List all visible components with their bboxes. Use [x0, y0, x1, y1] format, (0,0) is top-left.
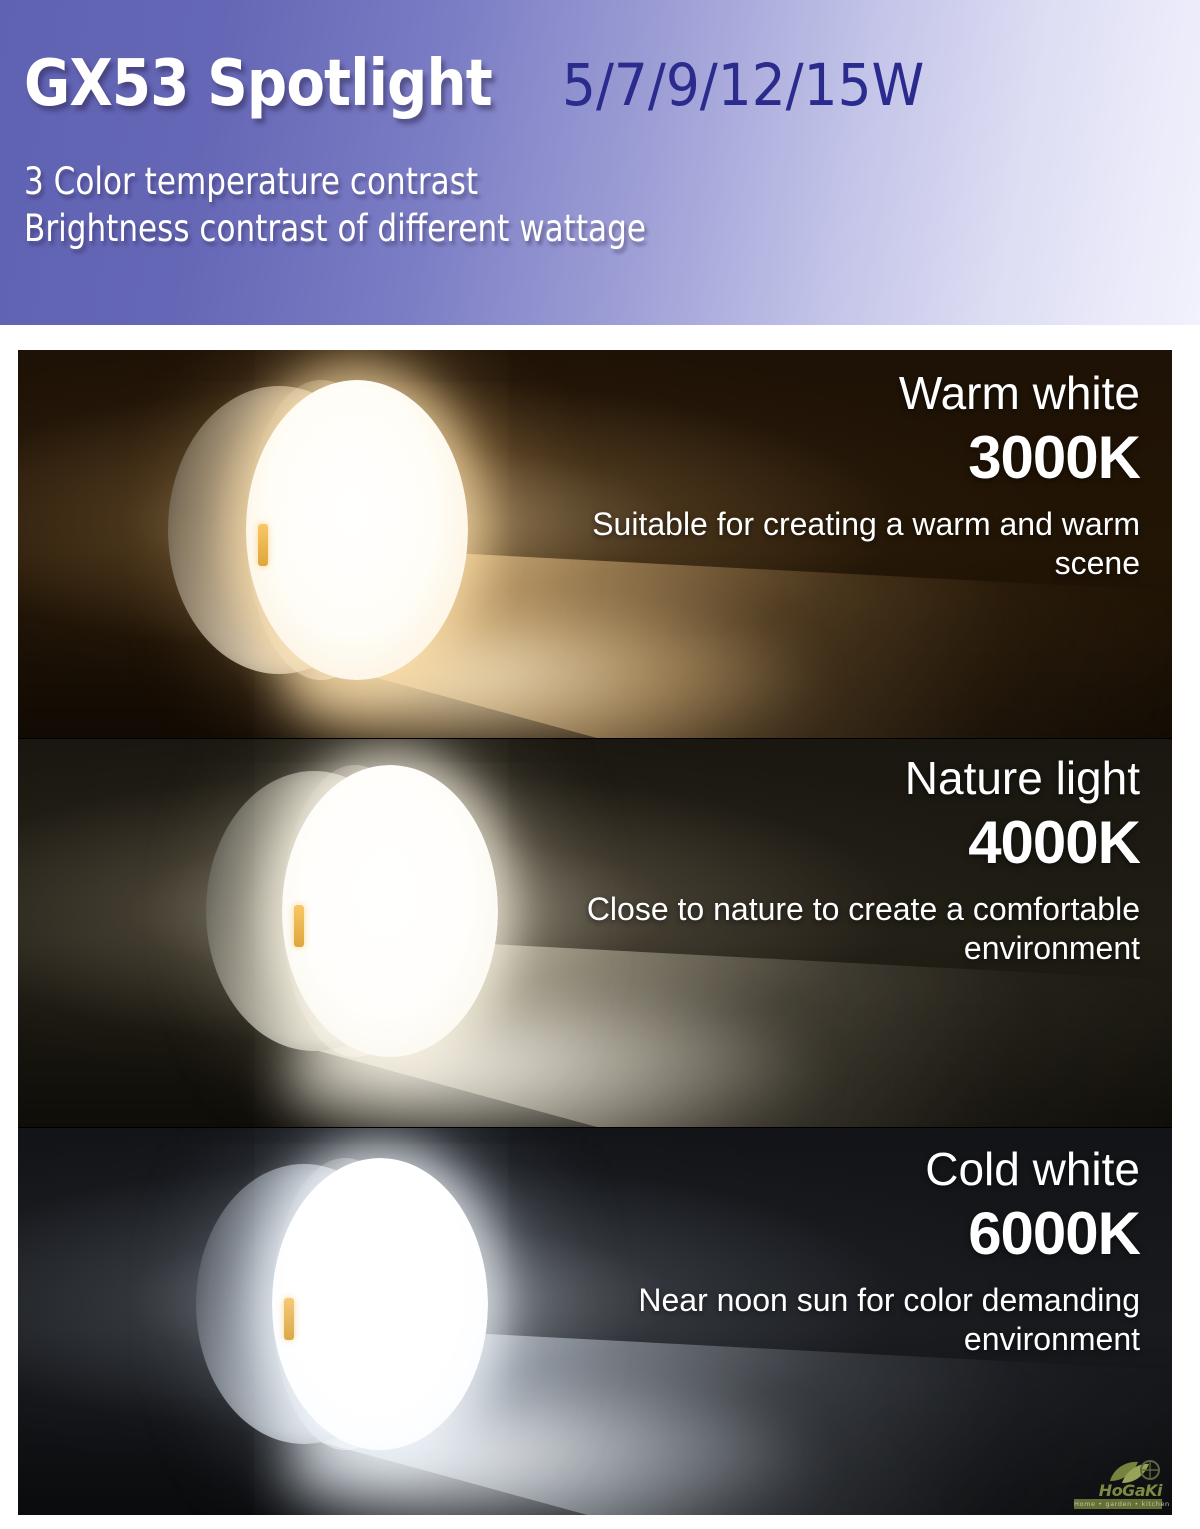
lamp-slot-indicator [258, 524, 268, 566]
color-temperature-description: Near noon sun for color demanding enviro… [580, 1281, 1140, 1359]
color-temperature-name: Cold white [580, 1144, 1140, 1196]
panel-text-nature: Nature light 4000K Close to nature to cr… [580, 753, 1140, 968]
panel-nature-light: Nature light 4000K Close to nature to cr… [18, 738, 1172, 1127]
color-temperature-comparison: Warm white 3000K Suitable for creating a… [18, 350, 1172, 1515]
panel-warm-white: Warm white 3000K Suitable for creating a… [18, 350, 1172, 738]
gx53-lamp-icon [196, 1158, 488, 1450]
color-temperature-description: Suitable for creating a warm and warm sc… [580, 505, 1140, 583]
panel-text-warm: Warm white 3000K Suitable for creating a… [580, 368, 1140, 583]
header-title-row: GX53 Spotlight 5/7/9/12/15W [24, 52, 955, 116]
header-subtitle-line-2: Brightness contrast of different wattage [24, 210, 646, 247]
wattage-label: 5/7/9/12/15W [562, 56, 924, 114]
header-subtitle-line-1: 3 Color temperature contrast [24, 163, 478, 200]
lamp-diffuser-face [272, 1158, 488, 1450]
lamp-diffuser-face [246, 380, 468, 680]
color-temperature-kelvin: 4000K [580, 809, 1140, 876]
panel-text-cold: Cold white 6000K Near noon sun for color… [580, 1144, 1140, 1359]
color-temperature-kelvin: 3000K [580, 424, 1140, 491]
color-temperature-description: Close to nature to create a comfortable … [580, 890, 1140, 968]
color-temperature-name: Nature light [580, 753, 1140, 805]
header-banner: GX53 Spotlight 5/7/9/12/15W 3 Color temp… [0, 0, 1200, 325]
lamp-slot-indicator [284, 1298, 294, 1340]
gx53-lamp-icon [168, 380, 468, 680]
lamp-diffuser-face [282, 765, 498, 1057]
brand-watermark: HoGaKi Home • garden • kitchen [1070, 1459, 1166, 1511]
brand-tagline: Home • garden • kitchen [1074, 1499, 1162, 1509]
panel-cold-white: Cold white 6000K Near noon sun for color… [18, 1127, 1172, 1515]
color-temperature-kelvin: 6000K [580, 1200, 1140, 1267]
color-temperature-name: Warm white [580, 368, 1140, 420]
lamp-slot-indicator [294, 905, 304, 947]
page-title: GX53 Spotlight [24, 52, 492, 116]
brand-name: HoGaKi [1099, 1483, 1162, 1499]
gx53-lamp-icon [206, 765, 498, 1057]
